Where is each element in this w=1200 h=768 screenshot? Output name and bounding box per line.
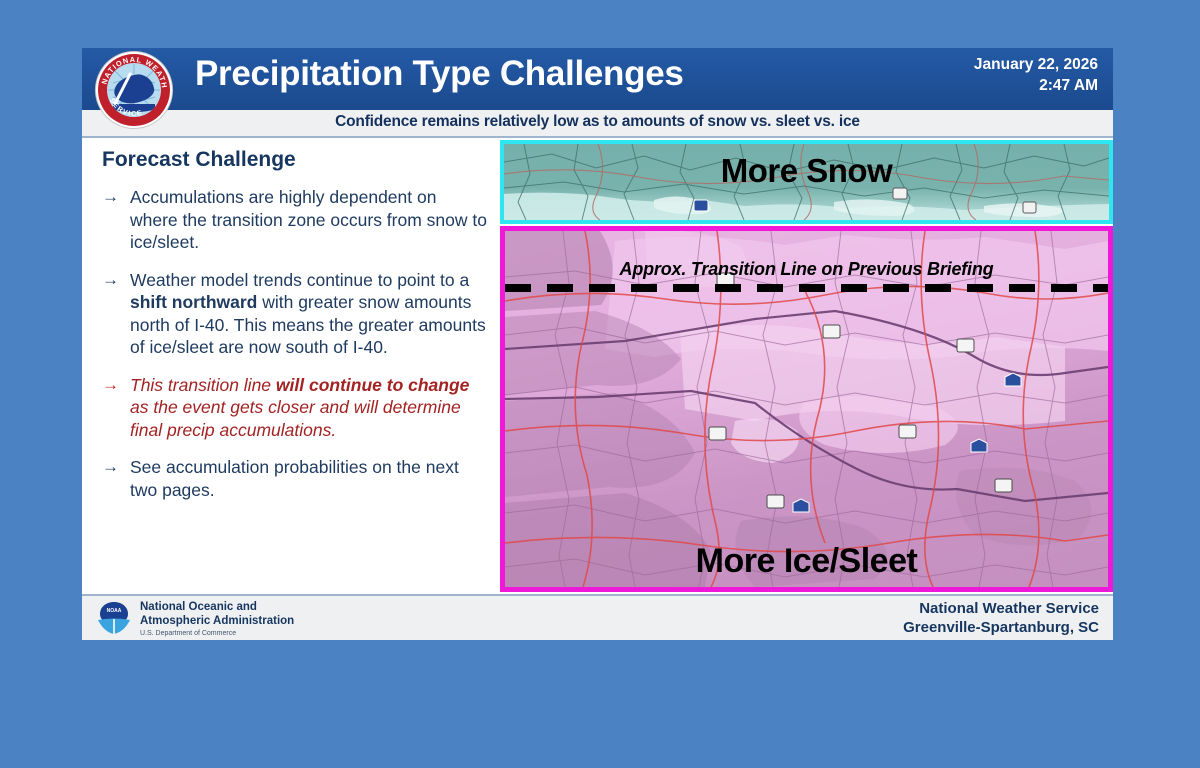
svg-text:NATIONAL WEATHER: NATIONAL WEATHER [96, 52, 169, 89]
nws-office-text: National Weather Service Greenville-Spar… [903, 600, 1099, 637]
bullet-text: See accumulation probabilities on the ne… [130, 457, 459, 500]
briefing-slide: Precipitation Type Challenges January 22… [82, 48, 1113, 640]
page-title: Precipitation Type Challenges [195, 54, 684, 94]
transition-line-label: Approx. Transition Line on Previous Brie… [505, 259, 1108, 280]
forecast-challenge-panel: Forecast Challenge →Accumulations are hi… [82, 138, 496, 596]
bullet-arrow-icon: → [102, 374, 119, 397]
noaa-line-1: National Oceanic and [140, 601, 294, 615]
briefing-time: 2:47 AM [974, 75, 1098, 96]
noaa-seal-icon: NOAA [96, 601, 132, 635]
bullet-model-trends: →Weather model trends continue to point … [102, 269, 488, 359]
noaa-line-3: U.S. Department of Commerce [140, 628, 294, 639]
bullet-accumulations: →Accumulations are highly dependent on w… [102, 186, 488, 254]
subtitle-text: Confidence remains relatively low as to … [82, 110, 1113, 134]
noaa-line-2: Atmospheric Administration [140, 615, 294, 629]
more-snow-label: More Snow [504, 152, 1109, 190]
bullet-text: Weather model trends continue to point t… [130, 270, 486, 358]
noaa-agency-text: National Oceanic and Atmospheric Adminis… [140, 601, 294, 639]
briefing-date: January 22, 2026 [974, 54, 1098, 75]
nws-roundel-icon: NATIONAL WEATHER SERVICE [96, 52, 172, 128]
nws-logo-arc-text: NATIONAL WEATHER SERVICE [96, 52, 172, 128]
transition-line-dashed [505, 284, 1108, 292]
subtitle-bar: Confidence remains relatively low as to … [82, 110, 1113, 138]
more-snow-region: More Snow [500, 140, 1113, 224]
briefing-timestamp: January 22, 2026 2:47 AM [974, 54, 1098, 96]
map-graphic: More Snow [496, 138, 1113, 596]
bullet-next-pages: →See accumulation probabilities on the n… [102, 456, 488, 501]
bullet-text: This transition line will continue to ch… [130, 375, 469, 440]
slide-footer: NOAA National Oceanic and Atmospheric Ad… [82, 594, 1113, 640]
bullet-arrow-icon: → [102, 186, 119, 209]
bullet-text: Accumulations are highly dependent on wh… [130, 187, 487, 252]
more-ice-sleet-region: Approx. Transition Line on Previous Brie… [500, 226, 1113, 592]
svg-text:SERVICE: SERVICE [108, 97, 144, 118]
bullet-arrow-icon: → [102, 269, 119, 292]
section-heading: Forecast Challenge [102, 148, 296, 172]
more-ice-sleet-label: More Ice/Sleet [505, 542, 1108, 581]
bullet-transition-change: →This transition line will continue to c… [102, 374, 488, 442]
nws-office-line-1: National Weather Service [903, 600, 1099, 619]
svg-text:NOAA: NOAA [107, 608, 122, 614]
page-background: Precipitation Type Challenges January 22… [0, 0, 1200, 768]
nws-office-line-2: Greenville-Spartanburg, SC [903, 619, 1099, 638]
bullet-arrow-icon: → [102, 456, 119, 479]
slide-header: Precipitation Type Challenges January 22… [82, 48, 1113, 110]
bullet-list: →Accumulations are highly dependent on w… [102, 186, 488, 516]
